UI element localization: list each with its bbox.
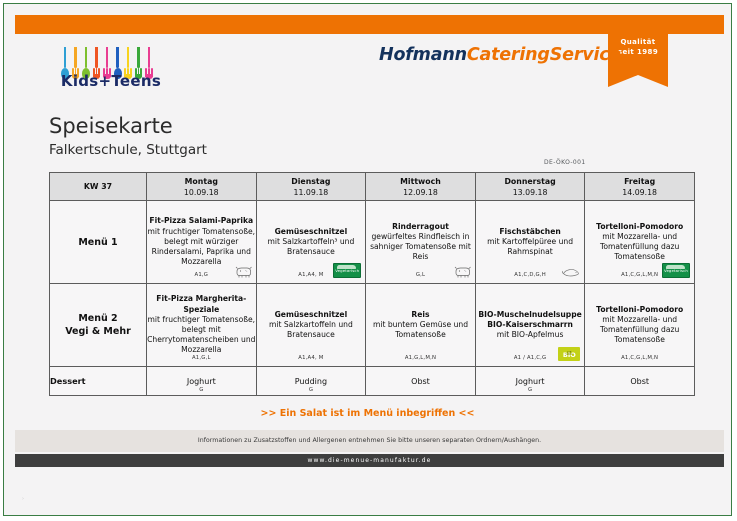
vegetarisch-badge: Vegetarisch — [333, 263, 361, 281]
week-label: KW 37 — [50, 173, 147, 201]
corner-mark: › — [22, 496, 24, 502]
day-date: 12.09.18 — [366, 187, 475, 198]
day-date: 14.09.18 — [585, 187, 694, 198]
day-name: Donnerstag — [476, 176, 585, 187]
day-name: Montag — [147, 176, 256, 187]
row-label-text: Menü 1 — [78, 237, 117, 248]
brand-name: HofmannCateringService — [379, 45, 621, 65]
allergen-codes: A1,G,L — [147, 353, 256, 363]
table-row-menu-2: Menü 2 Vegi & Mehr Fit-Pizza Margherita-… — [50, 284, 695, 367]
table-row-dessert: Dessert Joghurt G Pudding G Obst Joghurt… — [50, 367, 695, 396]
row-label-text: Menü 2 — [78, 313, 117, 324]
dessert-name: Pudding — [295, 377, 327, 386]
dish-cell-m2-donnerstag: BIO-Muschelnudelsuppe BIO-Kaiserschmarrn… — [475, 284, 585, 367]
dish-name: Rinderragout — [366, 222, 475, 232]
salad-included-note: >> Ein Salat ist im Menü inbegriffen << — [4, 408, 731, 419]
day-date: 10.09.18 — [147, 187, 256, 198]
dish-name: BIO-Muschelnudelsuppe BIO-Kaiserschmarrn — [476, 310, 585, 330]
dish-description: mit fruchtiger Tomatensoße, belegt mit C… — [147, 315, 256, 356]
day-name: Mittwoch — [366, 176, 475, 187]
bio-certification-code: DE-ÖKO-001 — [544, 159, 586, 166]
brand-name-part1: Hofmann — [379, 45, 467, 65]
dessert-cell-donnerstag: Joghurt G — [475, 367, 585, 396]
dish-name: Fit-Pizza Margherita-Speziale — [147, 294, 256, 314]
dessert-cell-mittwoch: Obst — [366, 367, 476, 396]
beef-icon — [235, 266, 252, 281]
dessert-cell-dienstag: Pudding G — [256, 367, 366, 396]
dish-description: gewürfeltes Rindfleisch in sahniger Toma… — [366, 232, 475, 263]
vegetarisch-badge: Vegetarisch — [662, 263, 690, 281]
ribbon-line-2: seit 1989 — [618, 48, 658, 56]
bio-badge-bottom: ÖKO — [558, 350, 580, 360]
dish-cell-m2-dienstag: Gemüseschnitzel mit Salzkartoffeln und B… — [256, 284, 366, 367]
menu-table: KW 37 Montag 10.09.18 Dienstag 11.09.18 … — [49, 172, 695, 396]
allergen-codes: G — [257, 387, 366, 393]
dish-description: mit buntem Gemüse und Tomatensoße — [366, 320, 475, 340]
dessert-name: Obst — [411, 377, 430, 386]
table-row-menu-1: Menü 1 Fit-Pizza Salami-Paprika mit fruc… — [50, 201, 695, 284]
dessert-cell-freitag: Obst — [585, 367, 695, 396]
day-date: 11.09.18 — [257, 187, 366, 198]
dish-cell-m2-freitag: Tortelloni-Pomodoro mit Mozzarella- und … — [585, 284, 695, 367]
website-url: www.die-menue-manufaktur.de — [15, 454, 724, 467]
dish-description: mit Mozzarella- und Tomatenfüllung dazu … — [585, 315, 694, 346]
fish-icon — [562, 267, 580, 281]
day-date: 13.09.18 — [476, 187, 585, 198]
allergen-info-note: Informationen zu Zusatzstoffen und Aller… — [15, 430, 724, 452]
day-header-donnerstag: Donnerstag 13.09.18 — [475, 173, 585, 201]
day-name: Freitag — [585, 176, 694, 187]
cutlery-icons — [61, 36, 156, 68]
dish-name: Tortelloni-Pomodoro — [585, 222, 694, 232]
dessert-name: Joghurt — [187, 377, 216, 386]
dish-name: Fischstäbchen — [476, 227, 585, 237]
logo-wordmark: Kids+Teens — [36, 72, 186, 90]
dish-cell-m1-montag: Fit-Pizza Salami-Paprika mit fruchtiger … — [147, 201, 257, 284]
dish-cell-m1-donnerstag: Fischstäbchen mit Kartoffelpüree und Rah… — [475, 201, 585, 284]
allergen-codes: A1,G,L,M,N — [366, 353, 475, 363]
day-header-montag: Montag 10.09.18 — [147, 173, 257, 201]
dish-name: Reis — [366, 310, 475, 320]
ribbon-line-1: Qualität — [620, 38, 655, 46]
dish-description: mit Salzkartoffeln³ und Bratensauce — [257, 237, 366, 257]
row-label-menu-2: Menü 2 Vegi & Mehr — [50, 284, 147, 367]
table-header-row: KW 37 Montag 10.09.18 Dienstag 11.09.18 … — [50, 173, 695, 201]
page-title: Speisekarte — [49, 114, 173, 138]
dish-description: mit BIO-Apfelmus — [476, 330, 585, 340]
row-label-menu-1: Menü 1 — [50, 201, 147, 284]
allergen-codes: A1,A4, M — [257, 353, 366, 363]
dish-name: Gemüseschnitzel — [257, 227, 366, 237]
bio-badge: DE BIO ÖKO — [558, 347, 580, 364]
dish-cell-m2-mittwoch: Reis mit buntem Gemüse und Tomatensoße A… — [366, 284, 476, 367]
ribbon-notch — [608, 75, 668, 87]
dish-name: Gemüseschnitzel — [257, 310, 366, 320]
allergen-codes: A1,C,G,L,M,N — [585, 353, 694, 363]
dish-description: mit Kartoffelpüree und Rahmspinat — [476, 237, 585, 257]
allergen-codes: G — [147, 387, 256, 393]
row-label-text-2: Vegi & Mehr — [65, 326, 131, 337]
dish-name: Fit-Pizza Salami-Paprika — [147, 216, 256, 226]
dish-cell-m1-freitag: Tortelloni-Pomodoro mit Mozzarella- und … — [585, 201, 695, 284]
dish-description: mit Mozzarella- und Tomatenfüllung dazu … — [585, 232, 694, 263]
dish-description: mit Salzkartoffeln und Bratensauce — [257, 320, 366, 340]
dessert-name: Joghurt — [516, 377, 545, 386]
day-header-mittwoch: Mittwoch 12.09.18 — [366, 173, 476, 201]
dessert-cell-montag: Joghurt G — [147, 367, 257, 396]
day-header-freitag: Freitag 14.09.18 — [585, 173, 695, 201]
dish-cell-m1-dienstag: Gemüseschnitzel mit Salzkartoffeln³ und … — [256, 201, 366, 284]
vegetarisch-badge-label: Vegetarisch — [334, 266, 360, 276]
row-label-dessert: Dessert — [50, 367, 147, 396]
dish-description: mit fruchtiger Tomatensoße, belegt mit w… — [147, 227, 256, 268]
dish-cell-m2-montag: Fit-Pizza Margherita-Speziale mit frucht… — [147, 284, 257, 367]
dish-cell-m1-mittwoch: Rinderragout gewürfeltes Rindfleisch in … — [366, 201, 476, 284]
dessert-name: Obst — [630, 377, 649, 386]
vegetarisch-badge-label: Vegetarisch — [663, 266, 689, 276]
day-header-dienstag: Dienstag 11.09.18 — [256, 173, 366, 201]
beef-icon — [454, 266, 471, 281]
allergen-codes: G — [476, 387, 585, 393]
menu-page: Qualität seit 1989 — [3, 3, 732, 516]
page-subtitle: Falkertschule, Stuttgart — [49, 142, 207, 158]
brand-name-part2: CateringService — [467, 45, 621, 65]
dish-name: Tortelloni-Pomodoro — [585, 305, 694, 315]
kids-teens-logo: Kids+Teens — [36, 36, 186, 94]
day-name: Dienstag — [257, 176, 366, 187]
